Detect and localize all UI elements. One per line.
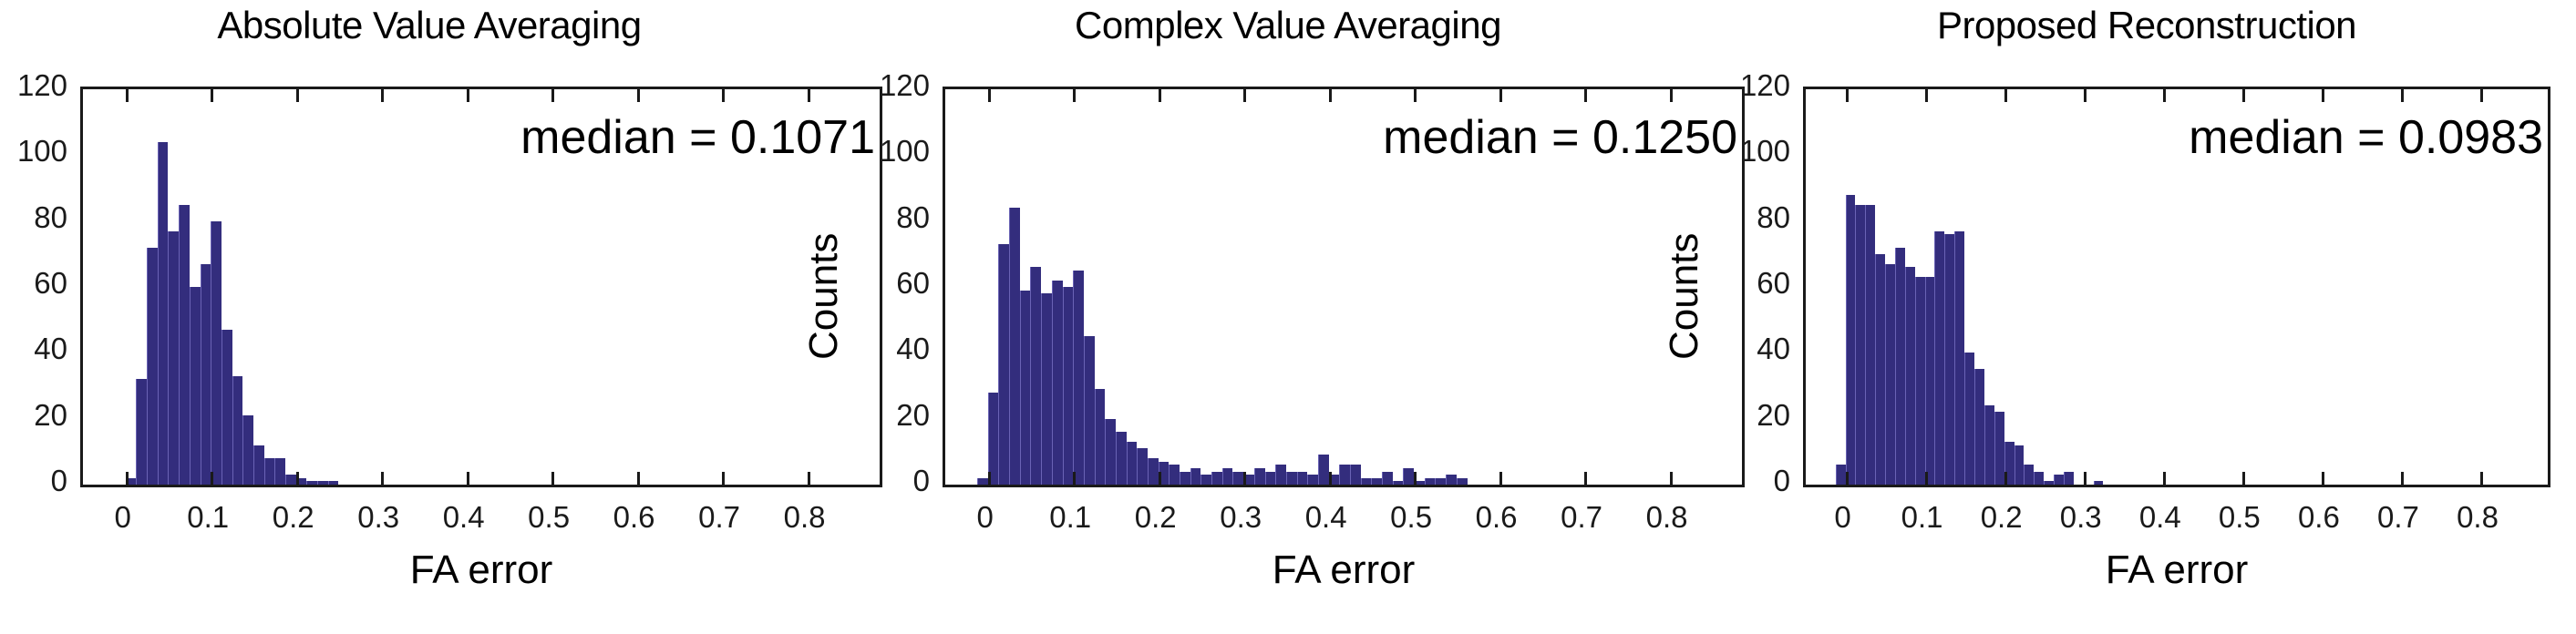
histogram-bar xyxy=(179,205,190,485)
x-axis-tick-top xyxy=(2322,89,2324,102)
histogram-bar xyxy=(1180,472,1190,485)
y-axis-tick-label: 40 xyxy=(0,332,67,366)
histogram-bar xyxy=(211,221,222,485)
x-axis-tick xyxy=(2163,472,2166,485)
x-axis-tick xyxy=(1414,472,1417,485)
x-axis-tick-label: 0.8 xyxy=(764,500,846,535)
x-axis-tick xyxy=(126,472,129,485)
y-axis-tick-label: 60 xyxy=(855,266,930,301)
median-annotation: median = 0.1250 xyxy=(943,110,1737,165)
histogram-bar xyxy=(1446,475,1457,485)
histogram-bar xyxy=(2094,481,2104,485)
y-axis-tick-label: 100 xyxy=(1716,134,1790,169)
x-axis-tick-top xyxy=(1925,89,1928,102)
x-axis-tick-top xyxy=(1499,89,1502,102)
x-axis-tick-label: 0.3 xyxy=(2040,500,2122,535)
median-annotation: median = 0.1071 xyxy=(80,110,875,165)
y-axis-tick-label: 80 xyxy=(855,200,930,235)
y-axis-tick-label: 60 xyxy=(0,266,67,301)
x-axis-tick xyxy=(2401,472,2404,485)
histogram-bar xyxy=(1052,281,1063,485)
histogram-bar xyxy=(1934,231,1944,485)
histogram-bar xyxy=(988,393,999,485)
histogram-bar xyxy=(1020,291,1031,485)
histogram-bar xyxy=(1318,455,1329,485)
histogram-bar xyxy=(264,458,275,485)
histogram-bar xyxy=(1222,468,1233,485)
y-axis-tick-label: 20 xyxy=(1716,398,1790,433)
histogram-bar xyxy=(1307,475,1318,485)
histogram-panel-3: Proposed Reconstruction02040608010012000… xyxy=(1717,0,2576,634)
y-axis-tick-label: 20 xyxy=(855,398,930,433)
histogram-bar xyxy=(1393,481,1404,485)
x-axis-tick-top xyxy=(2242,89,2245,102)
x-axis-tick xyxy=(988,472,991,485)
x-axis-tick xyxy=(1846,472,1849,485)
histogram-bar xyxy=(1885,264,1895,485)
x-axis-tick-label: 0.6 xyxy=(2278,500,2360,535)
y-axis-tick-label: 60 xyxy=(1716,266,1790,301)
histogram-bar xyxy=(1875,254,1885,485)
histogram-bar xyxy=(1403,468,1414,485)
histogram-bar xyxy=(1974,369,1984,485)
histogram-bar xyxy=(1095,389,1106,485)
histogram-bar xyxy=(317,481,328,485)
histogram-bar xyxy=(136,379,147,485)
histogram-bar xyxy=(1425,478,1436,485)
x-axis-tick-top xyxy=(1670,89,1673,102)
y-axis-tick-label: 0 xyxy=(0,464,67,498)
x-axis-tick xyxy=(808,472,810,485)
histogram-bar xyxy=(1435,478,1446,485)
histogram-bar xyxy=(1350,465,1361,485)
histogram-bar xyxy=(1964,353,1974,485)
histogram-bar xyxy=(1063,287,1074,485)
histogram-bar xyxy=(232,376,243,485)
x-axis-tick xyxy=(1073,472,1076,485)
x-axis-tick-top xyxy=(1329,89,1332,102)
x-axis-tick-top xyxy=(1414,89,1417,102)
x-axis-tick xyxy=(296,472,299,485)
histogram-bar xyxy=(2044,481,2054,485)
x-axis-tick-top xyxy=(2163,89,2166,102)
histogram-bar xyxy=(1009,208,1020,485)
x-axis-tick-label: 0.4 xyxy=(2119,500,2201,535)
histogram-bar xyxy=(1137,448,1148,485)
x-axis-tick xyxy=(1159,472,1161,485)
histogram-bar xyxy=(274,458,285,485)
x-axis-tick-top xyxy=(381,89,384,102)
histogram-bar xyxy=(1925,277,1935,485)
histogram-bar xyxy=(998,244,1009,485)
x-axis-tick-label: 0.4 xyxy=(423,500,505,535)
histogram-panel-2: Complex Value Averaging02040608010012000… xyxy=(859,0,1717,634)
x-axis-tick-top xyxy=(2401,89,2404,102)
histogram-bar xyxy=(1148,458,1159,485)
histogram-bar xyxy=(1954,231,1964,485)
histogram-bar xyxy=(2014,445,2025,485)
y-axis-tick-label: 0 xyxy=(855,464,930,498)
histogram-bar xyxy=(1211,472,1222,485)
y-axis-tick-label: 80 xyxy=(1716,200,1790,235)
x-axis-title: FA error xyxy=(943,547,1745,593)
x-axis-tick-top xyxy=(637,89,640,102)
histogram-bar xyxy=(2034,472,2044,485)
x-axis-tick-label: 0.2 xyxy=(252,500,335,535)
x-axis-tick xyxy=(1243,472,1246,485)
histogram-bar xyxy=(1865,205,1875,485)
histogram-bar xyxy=(977,478,988,485)
histogram-bar xyxy=(1200,475,1211,485)
x-axis-tick-top xyxy=(2480,89,2483,102)
x-axis-tick xyxy=(2480,472,2483,485)
histogram-bar xyxy=(2054,475,2064,485)
x-axis-tick xyxy=(1925,472,1928,485)
histogram-bar xyxy=(1984,405,1994,485)
x-axis-tick-top xyxy=(126,89,129,102)
y-axis-title: Counts xyxy=(1662,233,1707,360)
panel-title: Complex Value Averaging xyxy=(859,4,1717,47)
histogram-bar xyxy=(1895,248,1905,485)
histogram-bar xyxy=(1127,442,1138,485)
histogram-bar xyxy=(1382,472,1393,485)
x-axis-tick-top xyxy=(2084,89,2087,102)
x-axis-tick-label: 0.6 xyxy=(1456,500,1538,535)
x-axis-tick-top xyxy=(1073,89,1076,102)
x-axis-tick-label: 0.3 xyxy=(1200,500,1282,535)
histogram-bar xyxy=(1190,468,1201,485)
x-axis-tick xyxy=(1584,472,1587,485)
x-axis-tick-label: 0 xyxy=(82,500,164,535)
x-axis-tick xyxy=(1670,472,1673,485)
y-axis-tick-label: 120 xyxy=(0,68,67,103)
x-axis-tick-top xyxy=(296,89,299,102)
x-axis-tick xyxy=(381,472,384,485)
histogram-bar xyxy=(1836,465,1846,485)
y-axis-tick-label: 0 xyxy=(1716,464,1790,498)
x-axis-tick-top xyxy=(551,89,554,102)
histogram-bar xyxy=(2024,465,2034,485)
x-axis-title: FA error xyxy=(1803,547,2550,593)
histogram-bar xyxy=(306,481,317,485)
y-axis-tick-label: 100 xyxy=(855,134,930,169)
histogram-bar xyxy=(1944,234,1954,485)
histogram-bar xyxy=(2064,472,2074,485)
x-axis-tick-label: 0.7 xyxy=(678,500,760,535)
x-axis-tick-label: 0.7 xyxy=(2357,500,2439,535)
histogram-bar xyxy=(1275,465,1286,485)
histogram-panel-1: Absolute Value Averaging0204060801001200… xyxy=(0,0,859,634)
x-axis-tick xyxy=(637,472,640,485)
x-axis-tick-top xyxy=(1584,89,1587,102)
x-axis-tick-label: 0 xyxy=(944,500,1026,535)
x-axis-tick-label: 0.1 xyxy=(167,500,249,535)
histogram-bar xyxy=(1855,205,1865,485)
panel-title: Proposed Reconstruction xyxy=(1717,4,2576,47)
x-axis-tick xyxy=(2242,472,2245,485)
histogram-bar xyxy=(158,142,169,485)
x-axis-tick xyxy=(551,472,554,485)
x-axis-tick-label: 0.2 xyxy=(1115,500,1197,535)
histogram-bar xyxy=(1116,432,1127,485)
y-axis-tick-label: 20 xyxy=(0,398,67,433)
x-axis-title: FA error xyxy=(80,547,882,593)
histogram-bar xyxy=(222,330,232,485)
x-axis-tick-label: 0.4 xyxy=(1285,500,1367,535)
y-axis-tick-label: 40 xyxy=(855,332,930,366)
x-axis-tick-label: 0.5 xyxy=(2199,500,2281,535)
x-axis-tick-top xyxy=(2004,89,2007,102)
x-axis-tick-label: 0.5 xyxy=(1370,500,1452,535)
histogram-bar xyxy=(1073,271,1084,485)
y-axis-title: Counts xyxy=(801,233,847,360)
histogram-bar xyxy=(1030,267,1041,485)
x-axis-tick xyxy=(211,472,213,485)
x-axis-tick xyxy=(1499,472,1502,485)
y-axis-tick-label: 80 xyxy=(0,200,67,235)
x-axis-tick-label: 0.3 xyxy=(337,500,419,535)
histogram-bar xyxy=(1084,336,1095,485)
x-axis-tick xyxy=(2322,472,2324,485)
histogram-bar xyxy=(1339,465,1350,485)
panel-title: Absolute Value Averaging xyxy=(0,4,859,47)
histogram-bar xyxy=(1915,277,1925,485)
histogram-bar xyxy=(190,287,201,485)
x-axis-tick-top xyxy=(211,89,213,102)
x-axis-tick-top xyxy=(722,89,725,102)
y-axis-tick-label: 100 xyxy=(0,134,67,169)
x-axis-tick-top xyxy=(808,89,810,102)
histogram-bar xyxy=(1041,293,1052,485)
histogram-bar xyxy=(1361,478,1372,485)
x-axis-tick-top xyxy=(988,89,991,102)
x-axis-tick xyxy=(467,472,469,485)
histogram-bar xyxy=(328,481,339,485)
median-annotation: median = 0.0983 xyxy=(1803,110,2543,165)
y-axis-tick-label: 120 xyxy=(855,68,930,103)
histogram-bar xyxy=(201,264,211,485)
histogram-bar xyxy=(253,445,264,485)
y-axis-tick-label: 40 xyxy=(1716,332,1790,366)
x-axis-tick-label: 0.6 xyxy=(593,500,675,535)
histogram-bar xyxy=(1105,419,1116,485)
histogram-bar xyxy=(1297,472,1308,485)
x-axis-tick-label: 0.5 xyxy=(508,500,590,535)
x-axis-tick-label: 0.1 xyxy=(1881,500,1963,535)
x-axis-tick xyxy=(2004,472,2007,485)
histogram-bar xyxy=(1232,472,1243,485)
figure-root: Absolute Value Averaging0204060801001200… xyxy=(0,0,2576,634)
histogram-bar xyxy=(1286,472,1297,485)
x-axis-tick xyxy=(1329,472,1332,485)
x-axis-tick-top xyxy=(1243,89,1246,102)
x-axis-tick-label: 0.1 xyxy=(1029,500,1111,535)
histogram-bar xyxy=(1254,468,1265,485)
histogram-bar xyxy=(242,415,253,485)
histogram-bar xyxy=(1371,478,1382,485)
x-axis-tick-label: 0.8 xyxy=(2437,500,2519,535)
x-axis-tick-top xyxy=(1159,89,1161,102)
histogram-bar xyxy=(1994,412,2004,485)
x-axis-tick-top xyxy=(467,89,469,102)
y-axis-tick-label: 120 xyxy=(1716,68,1790,103)
histogram-bar xyxy=(168,231,179,485)
histogram-bar xyxy=(1846,195,1856,485)
x-axis-tick-label: 0.7 xyxy=(1540,500,1623,535)
histogram-bar xyxy=(1169,465,1180,485)
histogram-bar xyxy=(1265,472,1276,485)
histogram-bar xyxy=(1905,267,1915,485)
histogram-bar xyxy=(285,475,296,485)
x-axis-tick xyxy=(722,472,725,485)
x-axis-tick-top xyxy=(1846,89,1849,102)
x-axis-tick-label: 0 xyxy=(1802,500,1884,535)
x-axis-tick xyxy=(2084,472,2087,485)
x-axis-tick-label: 0.8 xyxy=(1626,500,1708,535)
x-axis-tick-label: 0.2 xyxy=(1961,500,2043,535)
histogram-bar xyxy=(1457,478,1468,485)
histogram-bar xyxy=(147,248,158,485)
